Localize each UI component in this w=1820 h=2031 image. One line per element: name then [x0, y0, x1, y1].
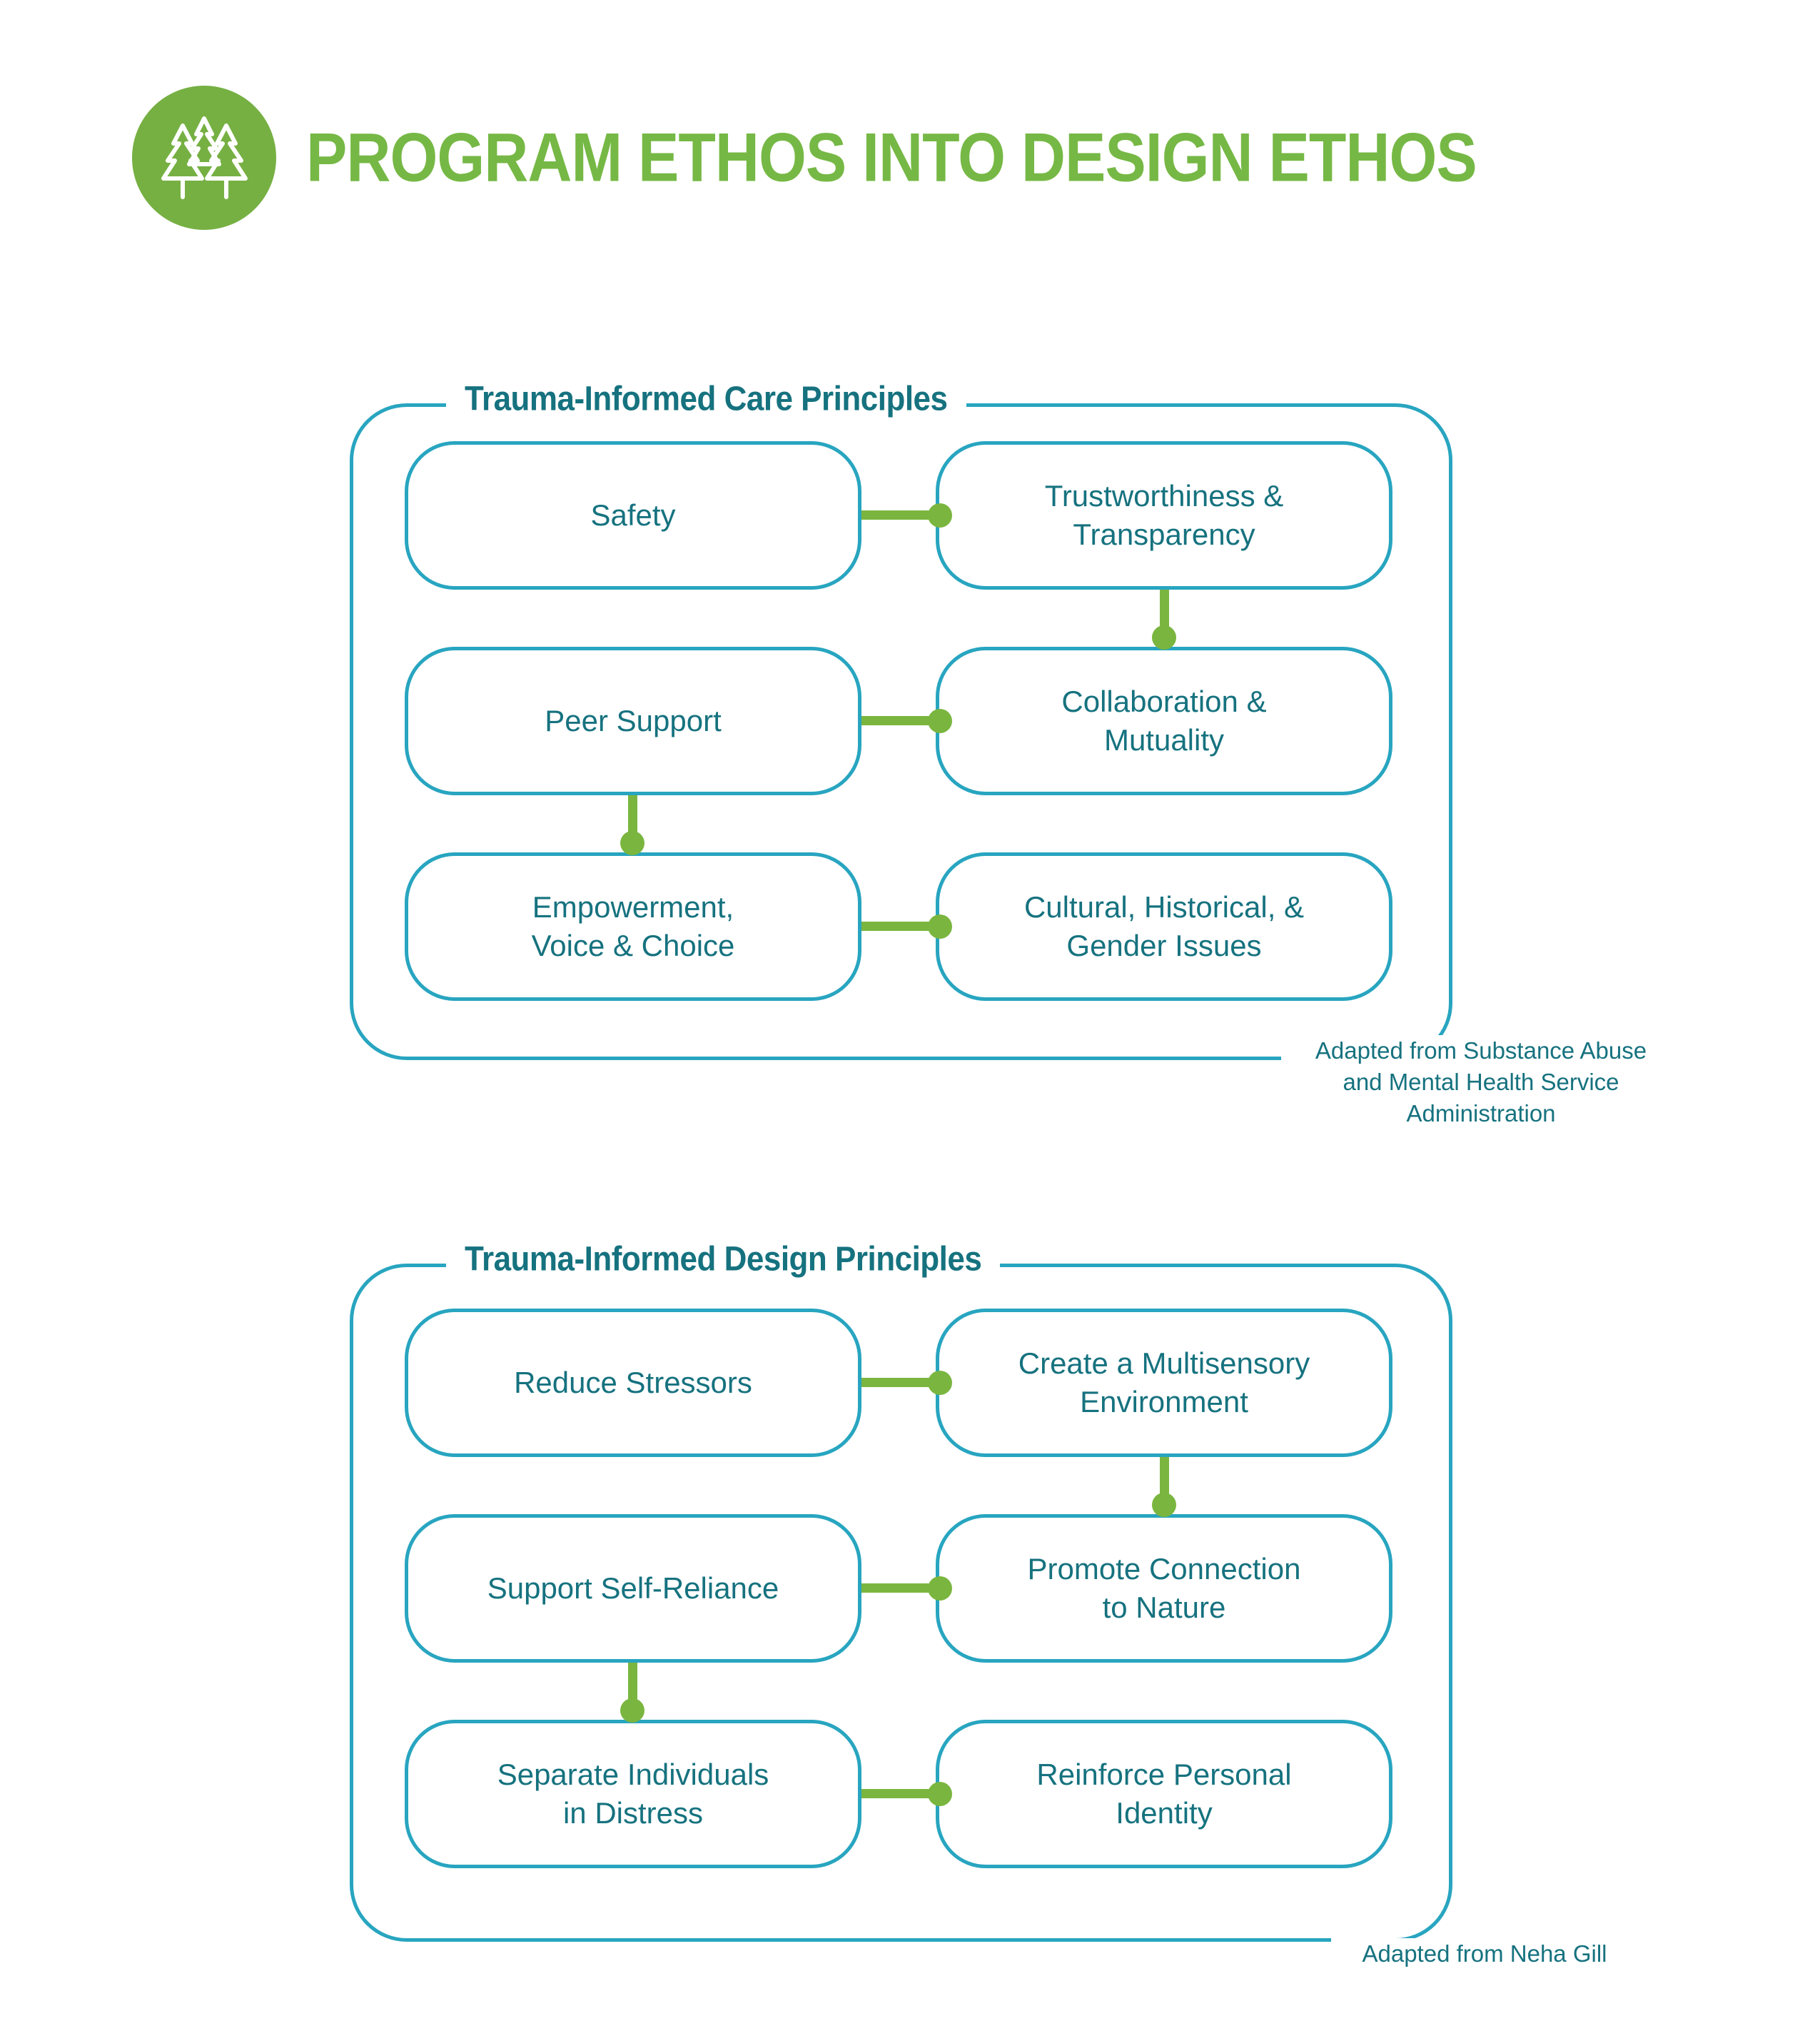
connector-dot-row3: [928, 1782, 952, 1806]
panel-trauma-informed-design: Trauma-Informed Design Principles Reduce…: [350, 1264, 1452, 1942]
connector-dot-vertical-right: [1152, 625, 1176, 650]
connector-dot-vertical-left: [620, 831, 644, 855]
pill-collaboration-mutuality[interactable]: Collaboration & Mutuality: [936, 647, 1392, 795]
page-title: PROGRAM ETHOS INTO DESIGN ETHOS: [306, 124, 1477, 192]
pill-reinforce-personal-identity[interactable]: Reinforce Personal Identity: [936, 1720, 1392, 1868]
diagram-page: PROGRAM ETHOS INTO DESIGN ETHOS Trauma-I…: [0, 0, 1820, 2031]
pill-grid-design: Reduce Stressors Create a Multisensory E…: [387, 1267, 1415, 1938]
connector-dot-row1: [928, 503, 952, 528]
pill-create-multisensory-environment[interactable]: Create a Multisensory Environment: [936, 1309, 1392, 1457]
three-pine-trees-icon: [132, 86, 276, 230]
pill-separate-individuals-in-distress[interactable]: Separate Individuals in Distress: [405, 1720, 861, 1868]
pill-trustworthiness-transparency[interactable]: Trustworthiness & Transparency: [936, 441, 1392, 590]
pill-support-self-reliance[interactable]: Support Self-Reliance: [405, 1514, 861, 1663]
panel-credit-design: Adapted from Neha Gill: [1331, 1938, 1638, 1970]
connector-dot-row3: [928, 914, 952, 939]
pill-cultural-historical-gender-issues[interactable]: Cultural, Historical, & Gender Issues: [936, 852, 1392, 1001]
connector-dot-row2: [928, 1576, 952, 1601]
panel-credit-care: Adapted from Substance Abuse and Mental …: [1281, 1035, 1681, 1129]
pill-empowerment-voice-choice[interactable]: Empowerment, Voice & Choice: [405, 852, 861, 1001]
pill-peer-support[interactable]: Peer Support: [405, 647, 861, 795]
pill-promote-connection-to-nature[interactable]: Promote Connection to Nature: [936, 1514, 1392, 1663]
panel-trauma-informed-care: Trauma-Informed Care Principles Safety T…: [350, 403, 1452, 1060]
connector-dot-vertical-left: [620, 1698, 644, 1723]
pill-safety[interactable]: Safety: [405, 441, 861, 590]
connector-dot-vertical-right: [1152, 1493, 1176, 1517]
connector-dot-row1: [928, 1371, 952, 1395]
pill-reduce-stressors[interactable]: Reduce Stressors: [405, 1309, 861, 1457]
page-header: PROGRAM ETHOS INTO DESIGN ETHOS: [132, 86, 1477, 230]
connector-dot-row2: [928, 709, 952, 733]
pill-grid-care: Safety Trustworthiness & Transparency Pe…: [387, 407, 1415, 1057]
